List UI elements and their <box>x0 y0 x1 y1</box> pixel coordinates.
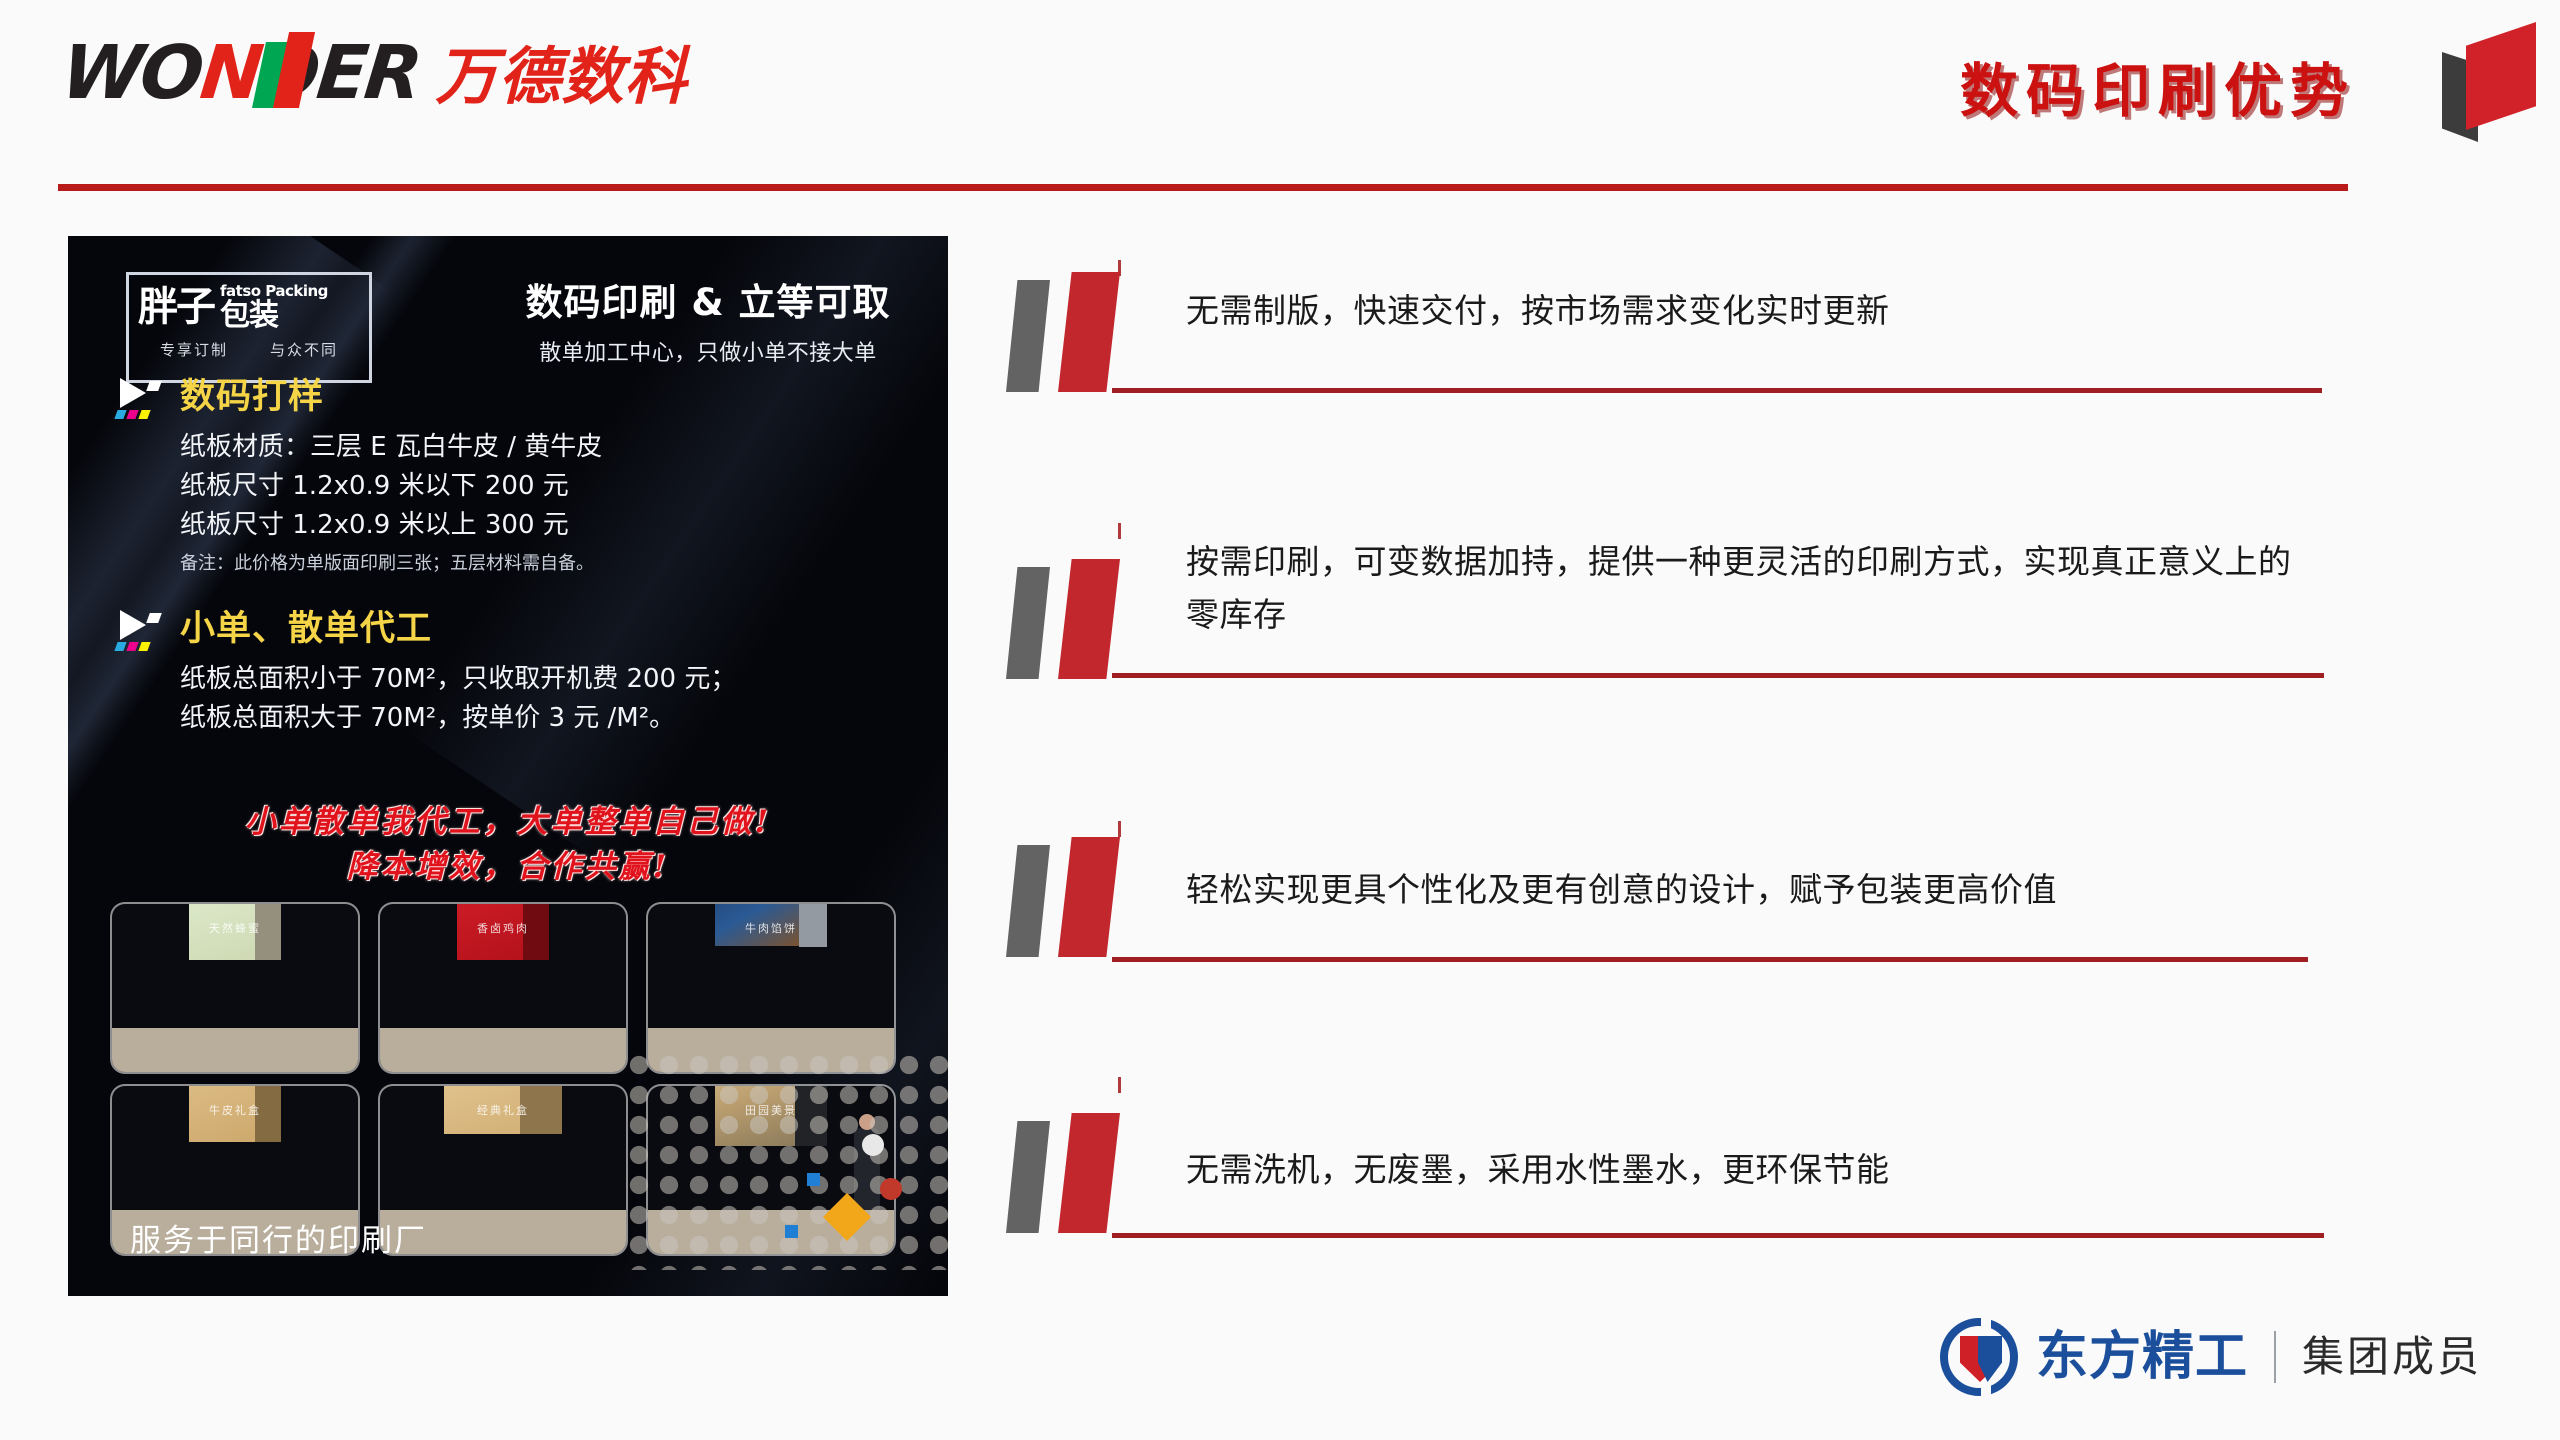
advantage-item-2: 按需印刷，可变数据加持，提供一种更灵活的印刷方式，实现真正意义上的零库存 <box>1000 535 2350 655</box>
chevron-flag-icon <box>1000 270 1160 392</box>
fatso-logo-top: 胖子 fatso Packing 包装 <box>129 275 369 339</box>
chevron-flag-icon <box>1000 557 1160 679</box>
slogan-line-1: 小单散单我代工，大单整单自己做! <box>68 800 948 845</box>
chevron-flag-icon <box>1000 835 1160 957</box>
group-member-logo: 东方精工 集团成员 <box>1940 1318 2482 1396</box>
fatso-logo-cn-main: 胖子 <box>138 287 214 327</box>
product-photo-label: 经典礼盒 <box>477 1102 529 1118</box>
advantage-text: 按需印刷，可变数据加持，提供一种更灵活的印刷方式，实现真正意义上的零库存 <box>1186 535 2316 642</box>
header-divider-rule <box>58 184 2348 191</box>
tick-mark <box>1118 1077 1121 1093</box>
section-body: 纸板总面积小于 70M²，只收取开机费 200 元； 纸板总面积大于 70M²，… <box>180 660 736 738</box>
blue-dot-decoration <box>807 1173 820 1186</box>
section-line: 纸板总面积大于 70M²，按单价 3 元 /M²。 <box>180 699 736 738</box>
product-photo-label: 天然蜂蜜 <box>209 920 261 936</box>
advantage-text: 无需制版，快速交付，按市场需求变化实时更新 <box>1186 284 2316 337</box>
wonder-wordmark: WO N DER <box>62 36 419 110</box>
arrow-marker-icon <box>114 376 170 424</box>
section-body: 纸板材质：三层 E 瓦白牛皮 / 黄牛皮 纸板尺寸 1.2x0.9 米以下 20… <box>180 428 602 575</box>
product-photo: 牛肉馅饼 <box>648 904 894 1072</box>
red-dot-decoration <box>880 1178 902 1200</box>
corner-red-shape <box>2466 22 2536 130</box>
blue-dot-decoration-2 <box>785 1225 798 1238</box>
corner-decoration-icon <box>2440 8 2540 143</box>
product-photo-label: 牛皮礼盒 <box>209 1102 261 1118</box>
advantage-item-4: 无需洗机，无废墨，采用水性墨水，更环保节能 <box>1000 1085 2350 1205</box>
wonder-brand-logo: WO N DER 万德数科 <box>62 36 687 108</box>
poster-slogan: 小单散单我代工，大单整单自己做! 降本增效，合作共赢! <box>68 800 948 890</box>
chevron-flag-icon <box>1000 1111 1160 1233</box>
fatso-sub-right: 与众不同 <box>270 339 338 360</box>
dongfang-jingong-icon <box>1940 1318 2018 1396</box>
page-header: WO N DER 万德数科 数码印刷优势 <box>0 0 2560 200</box>
section-title: 小单、散单代工 <box>180 612 736 647</box>
section-line: 纸板尺寸 1.2x0.9 米以下 200 元 <box>180 467 602 506</box>
fatso-logo-right: fatso Packing 包装 <box>220 283 328 331</box>
section-note: 备注：此价格为单版面印刷三张；五层材料需自备。 <box>180 549 602 575</box>
advantage-underline <box>1112 673 2324 678</box>
footer-member-label: 集团成员 <box>2302 1336 2482 1378</box>
slogan-line-2: 降本增效，合作共赢! <box>68 845 948 890</box>
tick-mark <box>1118 523 1121 539</box>
advantage-item-1: 无需制版，快速交付，按市场需求变化实时更新 <box>1000 270 2350 390</box>
section-line: 纸板材质：三层 E 瓦白牛皮 / 黄牛皮 <box>180 428 602 467</box>
wonder-text-wo: WO <box>58 36 204 110</box>
section-title: 数码打样 <box>180 380 602 415</box>
arrow-marker-icon <box>114 608 170 656</box>
poster-heading-block: 数码印刷 & 立等可取 散单加工中心，只做小单不接大单 <box>498 280 918 367</box>
product-photo-label: 牛肉馅饼 <box>745 920 797 936</box>
fatso-logo-cn-bottom: 包装 <box>220 298 278 333</box>
product-photo-row-top: 天然蜂蜜 香卤鸡肉 牛肉馅饼 <box>112 904 894 1072</box>
page-title: 数码印刷优势 <box>1960 44 2356 128</box>
footer-divider <box>2274 1331 2276 1383</box>
advantage-underline <box>1112 957 2308 962</box>
poster-section-small-orders: 小单、散单代工 纸板总面积小于 70M²，只收取开机费 200 元； 纸板总面积… <box>180 612 736 738</box>
fatso-logo-subtitle: 专享订制 与众不同 <box>129 339 369 360</box>
advantage-text: 无需洗机，无废墨，采用水性墨水，更环保节能 <box>1186 1143 2316 1196</box>
white-dot-decoration <box>862 1134 884 1156</box>
section-line: 纸板总面积小于 70M²，只收取开机费 200 元； <box>180 660 736 699</box>
fatso-packing-logo: 胖子 fatso Packing 包装 专享订制 与众不同 <box>126 272 372 383</box>
poster-footer-text: 服务于同行的印刷厂 <box>130 1215 427 1260</box>
fatso-sub-left: 专享订制 <box>160 339 228 360</box>
poster-heading: 数码印刷 & 立等可取 <box>498 280 918 326</box>
advantage-underline <box>1112 388 2322 393</box>
advantage-item-3: 轻松实现更具个性化及更有创意的设计，赋予包装更高价值 <box>1000 835 2350 955</box>
brand-chinese-name: 万德数科 <box>435 46 687 108</box>
advantage-underline <box>1112 1233 2324 1238</box>
poster-section-proofing: 数码打样 纸板材质：三层 E 瓦白牛皮 / 黄牛皮 纸板尺寸 1.2x0.9 米… <box>180 380 602 575</box>
promo-poster-image: 胖子 fatso Packing 包装 专享订制 与众不同 数码印刷 & 立等可… <box>68 236 948 1296</box>
footer-company-name: 东方精工 <box>2036 1331 2248 1383</box>
poster-subheading: 散单加工中心，只做小单不接大单 <box>498 335 918 367</box>
product-photo-label: 香卤鸡肉 <box>477 920 529 936</box>
advantage-text: 轻松实现更具个性化及更有创意的设计，赋予包装更高价值 <box>1186 863 2316 916</box>
product-photo: 香卤鸡肉 <box>380 904 626 1072</box>
section-line: 纸板尺寸 1.2x0.9 米以上 300 元 <box>180 506 602 545</box>
product-photo: 天然蜂蜜 <box>112 904 358 1072</box>
